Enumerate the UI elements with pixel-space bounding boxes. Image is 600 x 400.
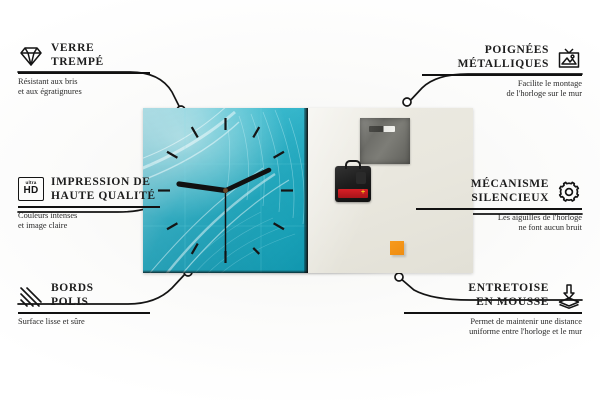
feature-entretoise-en-mousse: ENTRETOISE EN MOUSSE Permet de maintenir…	[404, 282, 582, 338]
clock-face-panel	[143, 108, 308, 273]
feature-description: Résistant aux bris et aux égratignures	[18, 77, 150, 98]
hanger-slot	[369, 126, 395, 132]
quartz-mechanism: +	[335, 166, 371, 202]
metal-hanger-plate	[360, 118, 410, 164]
feature-rule	[416, 208, 582, 210]
clock-hour-hand	[179, 184, 226, 191]
battery-plus-mark: +	[360, 190, 366, 196]
battery: +	[338, 189, 368, 198]
feature-mecanisme-silencieux: MÉCANISME SILENCIEUX Les aiguilles de l'…	[416, 178, 582, 234]
feature-rule	[422, 74, 582, 76]
picture-frame-hanger-icon	[556, 45, 582, 71]
feature-rule	[18, 206, 160, 208]
ultra-hd-badge-icon: ultra HD	[18, 177, 44, 203]
feature-description: Les aiguilles de l'horloge ne font aucun…	[416, 213, 582, 234]
feature-description: Surface lisse et sûre	[18, 317, 150, 328]
polished-edge-lines-icon	[18, 283, 44, 309]
feature-bords-polis: BORDS POLIS Surface lisse et sûre	[18, 282, 150, 327]
mechanism-hanging-loop	[345, 160, 361, 169]
clock-center-hub	[223, 188, 228, 193]
feature-title: POIGNÉES MÉTALLIQUES	[458, 44, 549, 71]
clock-dial	[143, 108, 308, 273]
feature-description: Permet de maintenir une distance uniform…	[404, 317, 582, 338]
feature-poignees-metalliques: POIGNÉES MÉTALLIQUES Facilite le montage…	[422, 44, 582, 100]
infographic-canvas: + VERRE TREMPÉ Résistant aux bris et aux…	[0, 0, 600, 400]
arrow-down-stack-icon	[556, 283, 582, 309]
panel-bottom-edge	[143, 270, 308, 273]
feature-title: IMPRESSION DE HAUTE QUALITÉ	[51, 176, 156, 203]
feature-title: BORDS POLIS	[51, 282, 94, 309]
feature-title: VERRE TREMPÉ	[51, 42, 104, 69]
feature-title: MÉCANISME SILENCIEUX	[471, 178, 549, 205]
feature-description: Facilite le montage de l'horloge sur le …	[422, 79, 582, 100]
clock-minute-hand	[226, 170, 270, 191]
foam-spacer	[390, 241, 404, 255]
feature-description: Couleurs intenses et image claire	[18, 211, 160, 232]
feature-title: ENTRETOISE EN MOUSSE	[468, 282, 549, 309]
feature-rule	[18, 72, 150, 74]
gear-icon	[556, 179, 582, 205]
clock-ticks	[143, 108, 308, 273]
feature-impression-haute-qualite: ultra HD IMPRESSION DE HAUTE QUALITÉ Cou…	[18, 176, 160, 232]
connector-dot-poignees	[403, 98, 411, 106]
mechanism-dial	[356, 172, 366, 184]
product-shadow	[146, 272, 472, 279]
feature-rule	[18, 312, 150, 314]
feature-rule	[404, 312, 582, 314]
ultra-hd-main-label: HD	[23, 186, 38, 196]
diamond-icon	[18, 43, 44, 69]
feature-verre-trempe: VERRE TREMPÉ Résistant aux bris et aux é…	[18, 42, 150, 98]
